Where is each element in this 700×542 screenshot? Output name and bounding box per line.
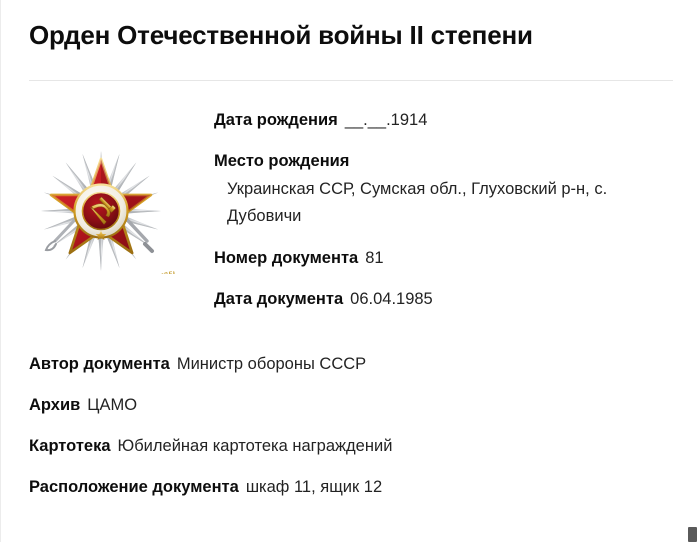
label-card-index: Картотека <box>29 437 111 455</box>
label-archive: Архив <box>29 396 80 414</box>
indented-field-list: Дата рождения__.__.1914 Место рождения У… <box>214 108 684 312</box>
svg-text:ОТЕЧЕСТВЕННАЯ ВОЙНА: ОТЕЧЕСТВЕННАЯ ВОЙНА <box>141 271 175 274</box>
value-birth-date: __.__.1914 <box>345 111 428 129</box>
label-document-author: Автор документа <box>29 355 170 373</box>
award-record-page: Орден Отечественной войны II степени <box>0 0 700 542</box>
value-document-author: Министр обороны СССР <box>177 355 366 373</box>
label-birth-place: Место рождения <box>214 152 349 170</box>
field-row-document-location: Расположение документашкаф 11, ящик 12 <box>29 475 679 500</box>
value-document-location: шкаф 11, ящик 12 <box>246 478 382 496</box>
value-document-number: 81 <box>365 249 383 267</box>
value-document-date: 06.04.1985 <box>350 290 433 308</box>
field-row-document-author: Автор документаМинистр обороны СССР <box>29 352 679 377</box>
order-of-the-patriotic-war-icon: ОТЕЧЕСТВЕННАЯ ВОЙНА <box>27 148 175 274</box>
page-title: Орден Отечественной войны II степени <box>29 18 669 52</box>
label-document-number: Номер документа <box>214 249 358 267</box>
label-birth-date: Дата рождения <box>214 111 338 129</box>
header-divider <box>29 80 673 81</box>
field-row-birth-place: Место рождения Украинская ССР, Сумская о… <box>214 149 684 230</box>
label-document-date: Дата документа <box>214 290 343 308</box>
field-row-document-date: Дата документа06.04.1985 <box>214 287 684 312</box>
field-row-document-number: Номер документа81 <box>214 246 684 271</box>
value-birth-place: Украинская ССР, Сумская обл., Глуховский… <box>227 176 657 230</box>
label-document-location: Расположение документа <box>29 478 239 496</box>
value-archive: ЦАМО <box>87 396 137 414</box>
value-card-index: Юбилейная картотека награждений <box>118 437 393 455</box>
full-width-field-list: Автор документаМинистр обороны СССР Архи… <box>29 352 679 500</box>
field-row-birth-date: Дата рождения__.__.1914 <box>214 108 684 133</box>
field-row-card-index: КартотекаЮбилейная картотека награждений <box>29 434 679 459</box>
field-row-archive: АрхивЦАМО <box>29 393 679 418</box>
vertical-scrollbar-thumb[interactable] <box>688 527 697 542</box>
